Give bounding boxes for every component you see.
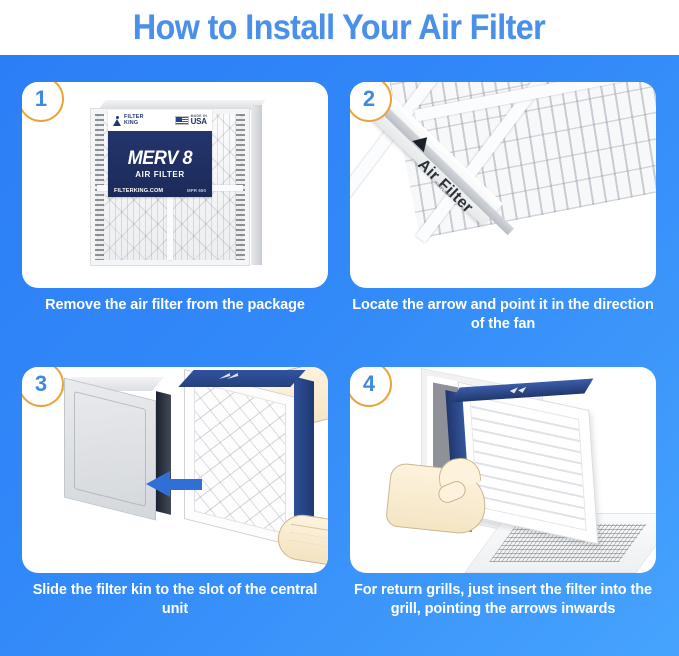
step-card-3: 3 Slide the filter kin to the slot of th…: [22, 367, 328, 637]
label-subtitle: AIR FILTER: [135, 170, 184, 179]
step-card-2: Air Filter AIRFLOW 2 Locate the arrow an…: [350, 82, 656, 352]
air-filter-product-photo: FILTER KING MADE IN USA: [22, 82, 328, 288]
usa-flag-icon: [175, 116, 189, 125]
left-arrow-icon: [146, 471, 202, 497]
step-2-image-card: Air Filter AIRFLOW 2: [350, 82, 656, 288]
label-header: FILTER KING MADE IN USA: [108, 110, 212, 131]
label-footer: FILTERKING.COM MPR 650: [108, 186, 212, 195]
product-label: FILTER KING MADE IN USA: [108, 110, 212, 197]
step-card-4: 4 For return grills, just insert the fil…: [350, 367, 656, 637]
step-caption-4: For return grills, just insert the filte…: [350, 581, 656, 619]
inward-arrows-icon: [217, 372, 247, 380]
step-caption-3: Slide the filter kin to the slot of the …: [22, 581, 328, 619]
step-card-1: FILTER KING MADE IN USA: [22, 82, 328, 352]
made-in-usa-badge: MADE IN USA: [175, 114, 207, 127]
step-1-image-card: FILTER KING MADE IN USA: [22, 82, 328, 288]
title-band: How to Install Your Air Filter: [0, 0, 679, 55]
crown-icon: [113, 116, 122, 126]
slide-filter-into-unit-illustration: [22, 367, 328, 573]
filter-body: [184, 369, 296, 547]
step-3-image-card: 3: [22, 367, 328, 573]
step-4-image-card: 4: [350, 367, 656, 573]
filter-corner: Air Filter AIRFLOW: [350, 82, 656, 288]
mpr-text: MPR 650: [187, 188, 206, 193]
inward-arrows-icon: [507, 387, 528, 395]
step-caption-1: Remove the air filter from the package: [22, 296, 328, 315]
step-caption-2: Locate the arrow and point it in the dir…: [350, 296, 656, 334]
filter-king-logo: FILTER KING: [113, 115, 144, 126]
page-title: How to Install Your Air Filter: [133, 9, 545, 47]
website-text: FILTERKING.COM: [114, 188, 163, 194]
return-grill-insert-illustration: [350, 367, 656, 573]
filter-side-wall: [251, 105, 262, 265]
infographic-page: How to Install Your Air Filter: [0, 0, 679, 656]
brand-text: FILTER KING: [124, 115, 144, 126]
filter-product: FILTER KING MADE IN USA: [90, 100, 262, 270]
merv-rating: MERV 8: [128, 149, 192, 168]
filter-mesh-pattern: [194, 382, 286, 535]
filter-frame-top: [178, 370, 305, 387]
filter-corner-closeup: Air Filter AIRFLOW: [350, 82, 656, 288]
filter-frame-side: [294, 377, 314, 534]
unit-front-panel: [64, 378, 156, 521]
hand-inserting-filter: [385, 462, 489, 536]
steps-grid: FILTER KING MADE IN USA: [0, 55, 679, 656]
label-body: MERV 8 AIR FILTER FILTERKING.COM MPR 650: [108, 131, 212, 197]
grill-louvers: [469, 395, 586, 531]
